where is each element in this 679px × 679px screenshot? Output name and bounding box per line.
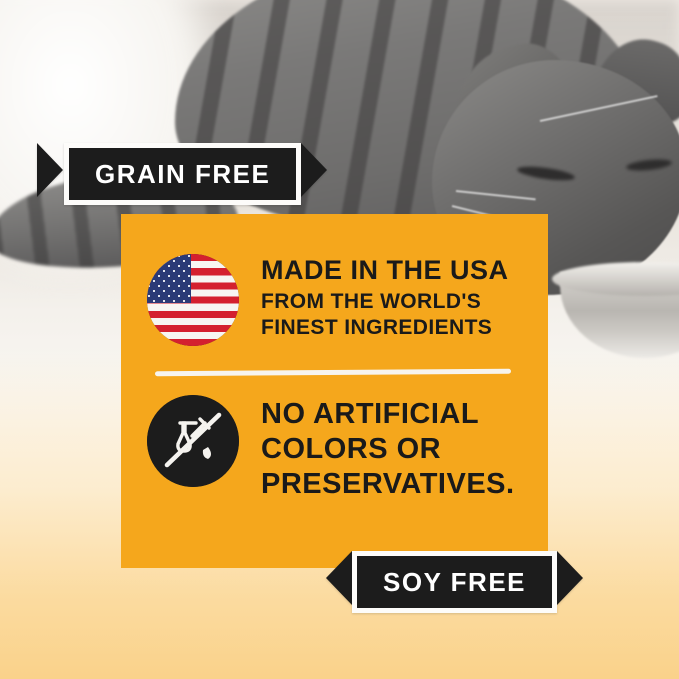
made-in-usa-text-block: MADE IN THE USA FROM THE WORLD'S FINEST … <box>261 254 509 339</box>
ribbon-tail-right-icon <box>557 551 583 605</box>
no-artificial-text-block: NO ARTIFICIAL COLORS OR PRESERVATIVES. <box>261 395 515 501</box>
badge-grain-free-label: GRAIN FREE <box>64 143 301 205</box>
no-artificial-line-2: COLORS OR <box>261 432 515 467</box>
badge-soy-free: SOY FREE <box>352 551 557 613</box>
no-dropper-icon <box>147 395 239 487</box>
no-dropper-icon-glyph <box>147 395 239 487</box>
badge-grain-free: GRAIN FREE <box>64 143 301 205</box>
no-artificial-line-3: PRESERVATIVES. <box>261 467 515 502</box>
feature-made-in-usa: MADE IN THE USA FROM THE WORLD'S FINEST … <box>147 254 519 346</box>
usa-flag-stars <box>147 254 191 303</box>
ribbon-tail-left-icon <box>326 551 352 605</box>
feature-no-artificial: NO ARTIFICIAL COLORS OR PRESERVATIVES. <box>147 395 519 501</box>
made-in-usa-subline-1: FROM THE WORLD'S <box>261 290 509 314</box>
usa-flag-icon <box>147 254 239 346</box>
card-divider <box>155 369 511 376</box>
product-feature-graphic: GRAIN FREE MADE IN THE USA FROM THE WORL… <box>0 0 679 679</box>
feature-card: MADE IN THE USA FROM THE WORLD'S FINEST … <box>121 214 545 568</box>
badge-soy-free-label: SOY FREE <box>352 551 557 613</box>
ribbon-tail-right-icon <box>301 143 327 197</box>
ribbon-tail-left-icon <box>37 143 63 197</box>
no-artificial-line-1: NO ARTIFICIAL <box>261 397 515 432</box>
made-in-usa-subline-2: FINEST INGREDIENTS <box>261 316 509 340</box>
made-in-usa-headline: MADE IN THE USA <box>261 256 509 284</box>
